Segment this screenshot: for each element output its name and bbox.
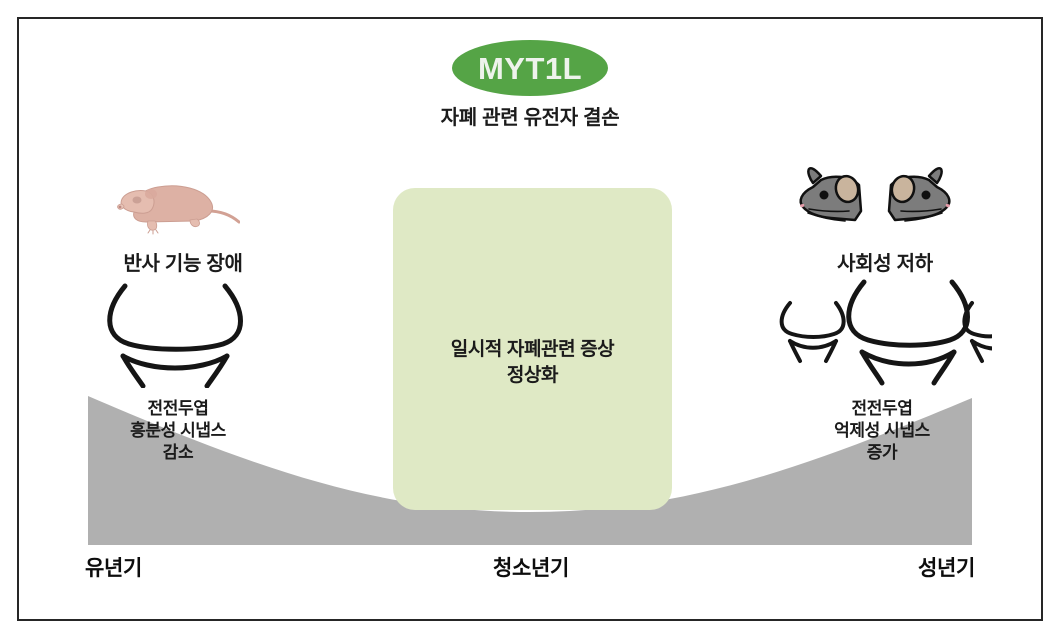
stage-label-infancy: 유년기 [85,552,285,582]
right-synapse-note: 전전두엽 억제성 시냅스 증가 [757,398,1007,464]
left-phenotype-title: 반사 기능 장애 [58,247,308,276]
gene-badge: MYT1L [452,40,608,96]
synapse-icon-group-left [95,278,255,388]
stage-label-adolescence: 청소년기 [431,552,631,582]
adolescence-panel-label: 일시적 자폐관련 증상 정상화 [393,337,672,388]
stage-label-adulthood: 성년기 [775,552,975,582]
gene-caption: 자폐 관련 유전자 결손 [380,101,680,130]
figure-root: 일시적 자폐관련 증상 정상화 MYT1L 자폐 관련 유전자 결손 [0,0,1061,638]
adult-mice-icon [793,163,957,235]
synapse-icon-group-right [772,273,992,388]
right-phenotype-title: 사회성 저하 [760,247,1010,276]
gene-name: MYT1L [478,53,582,84]
left-synapse-note: 전전두엽 흥분성 시냅스 감소 [53,398,303,464]
mouse-pup-icon [110,178,240,238]
